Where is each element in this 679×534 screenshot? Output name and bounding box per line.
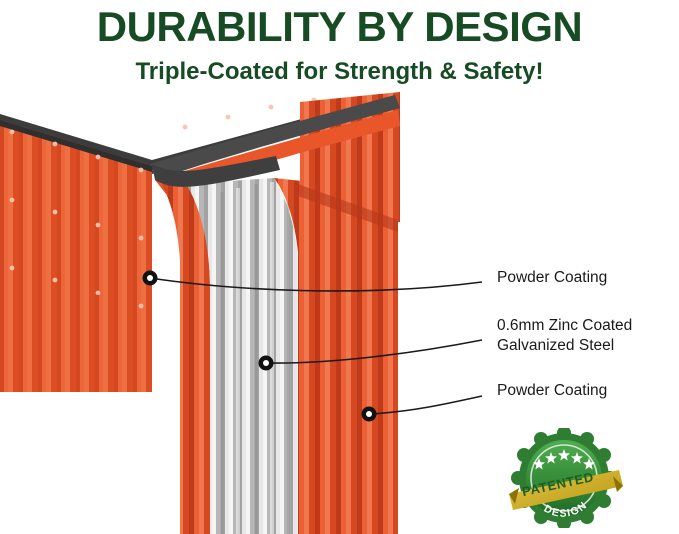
patented-design-badge: PATENTED DESIGN: [505, 428, 623, 528]
callout-label-powder-coating-bottom: Powder Coating: [497, 381, 607, 401]
product-infographic: DURABILITY BY DESIGN Triple-Coated for S…: [0, 0, 679, 534]
callout-label-powder-coating-top: Powder Coating: [497, 268, 607, 288]
page-subtitle: Triple-Coated for Strength & Safety!: [0, 58, 679, 86]
callout-label-galvanized-steel: 0.6mm Zinc Coated Galvanized Steel: [497, 316, 632, 356]
badge-graphic: [505, 428, 623, 528]
page-title: DURABILITY BY DESIGN: [0, 4, 679, 50]
